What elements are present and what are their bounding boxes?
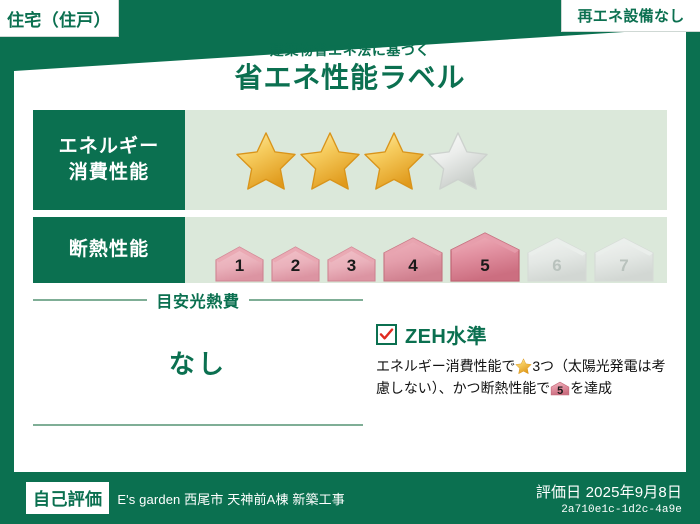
star-filled-gold-icon	[363, 130, 425, 190]
house-strip: 1 2 3	[213, 217, 659, 283]
house-icon	[213, 245, 266, 283]
evaluation-date: 評価日 2025年9月8日	[536, 481, 682, 502]
utility-cost-underline	[33, 424, 363, 426]
house-icon	[448, 231, 522, 283]
zeh-standard-block: ZEH水準 エネルギー消費性能で3つ（太陽光発電は考慮しない）、かつ断熱性能で5…	[376, 320, 672, 399]
house-level-2: 2	[269, 245, 322, 283]
badge-building-type: 住宅（住戸）	[0, 0, 119, 37]
zeh-desc-part1: エネルギー消費性能で	[376, 358, 515, 374]
footer-left-group: 自己評価 E's garden 西尾市 天神前A棟 新築工事	[26, 482, 345, 514]
house-level-7: 7	[592, 236, 656, 283]
insulation-performance-label: 断熱性能	[33, 217, 185, 283]
house-level-5: 5	[448, 231, 522, 283]
house-level-number: 5	[550, 386, 570, 397]
zeh-desc-part3: を達成	[570, 380, 612, 396]
evaluation-type-badge: 自己評価	[26, 482, 109, 514]
house-icon	[381, 236, 445, 283]
house-icon	[269, 245, 322, 283]
evaluation-id: 2a710e1c-1d2c-4a9e	[536, 504, 682, 516]
zeh-description: エネルギー消費性能で3つ（太陽光発電は考慮しない）、かつ断熱性能で5を達成	[376, 356, 672, 399]
house-level-6: 6	[525, 236, 589, 283]
house-icon	[592, 236, 656, 283]
insulation-level-scale: 1 2 3	[185, 217, 667, 283]
utility-cost-heading: 目安光熱費	[156, 288, 239, 312]
house-icon	[325, 245, 378, 283]
insulation-performance-row: 断熱性能 1	[33, 217, 667, 283]
utility-cost-value: なし	[33, 344, 363, 381]
house-icon	[525, 236, 589, 283]
energy-star-rating	[185, 110, 667, 210]
zeh-checkbox	[376, 324, 397, 345]
check-mark-icon	[379, 327, 394, 342]
star-filled-gold-icon	[235, 130, 297, 190]
house-level-3: 3	[325, 245, 378, 283]
utility-cost-heading-row: 目安光熱費	[33, 288, 363, 312]
footer-right-group: 評価日 2025年9月8日 2a710e1c-1d2c-4a9e	[536, 481, 682, 516]
energy-performance-row: エネルギー 消費性能	[33, 110, 667, 210]
zeh-heading-row: ZEH水準	[376, 320, 672, 349]
energy-performance-label: 住宅（住戸） 再エネ設備なし 建築物省エネ法に基づく 省エネ性能ラベル エネルギ…	[0, 0, 700, 524]
zeh-title: ZEH水準	[405, 320, 487, 349]
footer-bar: 自己評価 E's garden 西尾市 天神前A棟 新築工事 評価日 2025年…	[0, 472, 700, 524]
heading-rule-right	[249, 299, 363, 301]
energy-performance-label: エネルギー 消費性能	[33, 110, 185, 210]
building-name: E's garden 西尾市 天神前A棟 新築工事	[117, 489, 345, 508]
badge-renewable-energy: 再エネ設備なし	[561, 0, 700, 32]
star-filled-gold-icon	[515, 358, 532, 374]
star-empty-gray-icon	[427, 130, 489, 190]
heading-rule-left	[33, 299, 147, 301]
house-level-4: 4	[381, 236, 445, 283]
star-filled-gold-icon	[299, 130, 361, 190]
energy-label-line1: エネルギー	[59, 134, 160, 160]
house-icon: 5	[550, 380, 570, 397]
energy-label-line2: 消費性能	[69, 160, 150, 186]
house-level-1: 1	[213, 245, 266, 283]
insulation-label-text: 断熱性能	[69, 237, 150, 263]
utility-cost-section: 目安光熱費 なし	[33, 288, 363, 381]
